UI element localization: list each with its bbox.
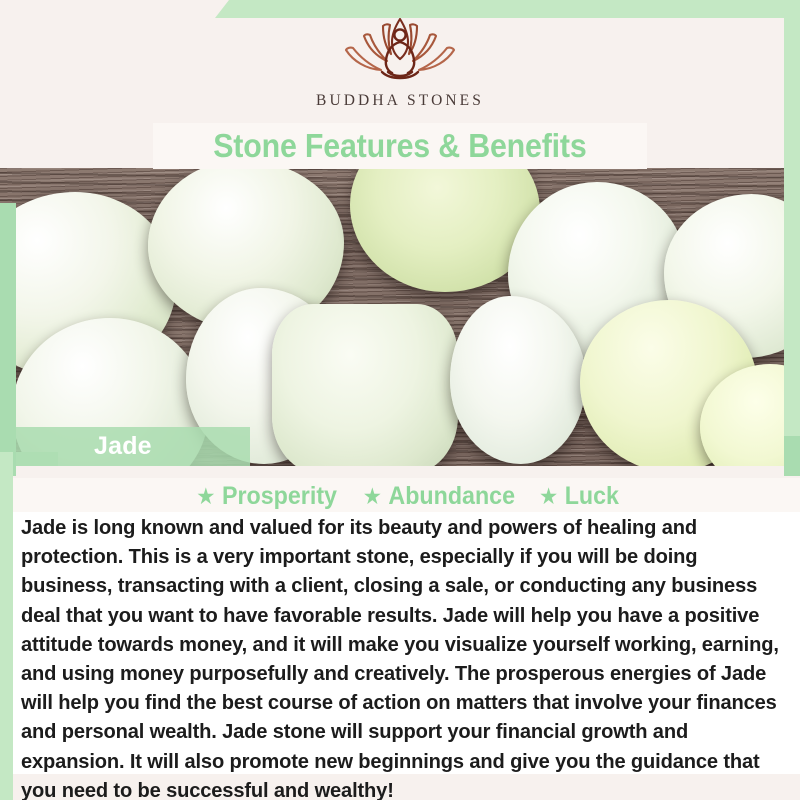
benefit-item-abundance: ★ Abundance — [363, 482, 515, 511]
stone-name-banner: Jade — [16, 427, 250, 466]
benefit-item-prosperity: ★ Prosperity — [196, 482, 337, 511]
decor-top-green-band — [215, 0, 800, 18]
brand-logo: BUDDHA STONES — [0, 14, 800, 122]
lotus-meditation-figure-icon — [326, 14, 474, 88]
stone-8 — [272, 304, 458, 466]
photo-text-gap — [0, 466, 800, 478]
brand-wordmark: BUDDHA STONES — [316, 92, 484, 110]
description-card: Jade is long known and valued for its be… — [13, 512, 800, 774]
benefit-label: Abundance — [389, 482, 516, 511]
decor-right-green-bar — [784, 0, 800, 452]
title-banner: Stone Features & Benefits — [153, 123, 647, 169]
star-icon: ★ — [196, 485, 215, 508]
benefits-row: ★ Prosperity ★ Abundance ★ Luck — [13, 478, 800, 514]
benefit-item-luck: ★ Luck — [539, 482, 619, 511]
decor-right-green-accent — [784, 436, 800, 476]
stone-name-label: Jade — [94, 432, 152, 461]
infographic-page: BUDDHA STONES Stone Features & Benefits … — [0, 0, 800, 800]
star-icon: ★ — [539, 485, 558, 508]
decor-left-text-green-bar — [0, 452, 13, 800]
description-text: Jade is long known and valued for its be… — [21, 514, 782, 800]
star-icon: ★ — [363, 485, 382, 508]
decor-left-green-bar — [0, 203, 16, 476]
benefit-label: Prosperity — [222, 482, 337, 511]
benefit-label: Luck — [565, 482, 619, 511]
hero-photo — [0, 168, 800, 466]
page-title: Stone Features & Benefits — [213, 127, 586, 165]
